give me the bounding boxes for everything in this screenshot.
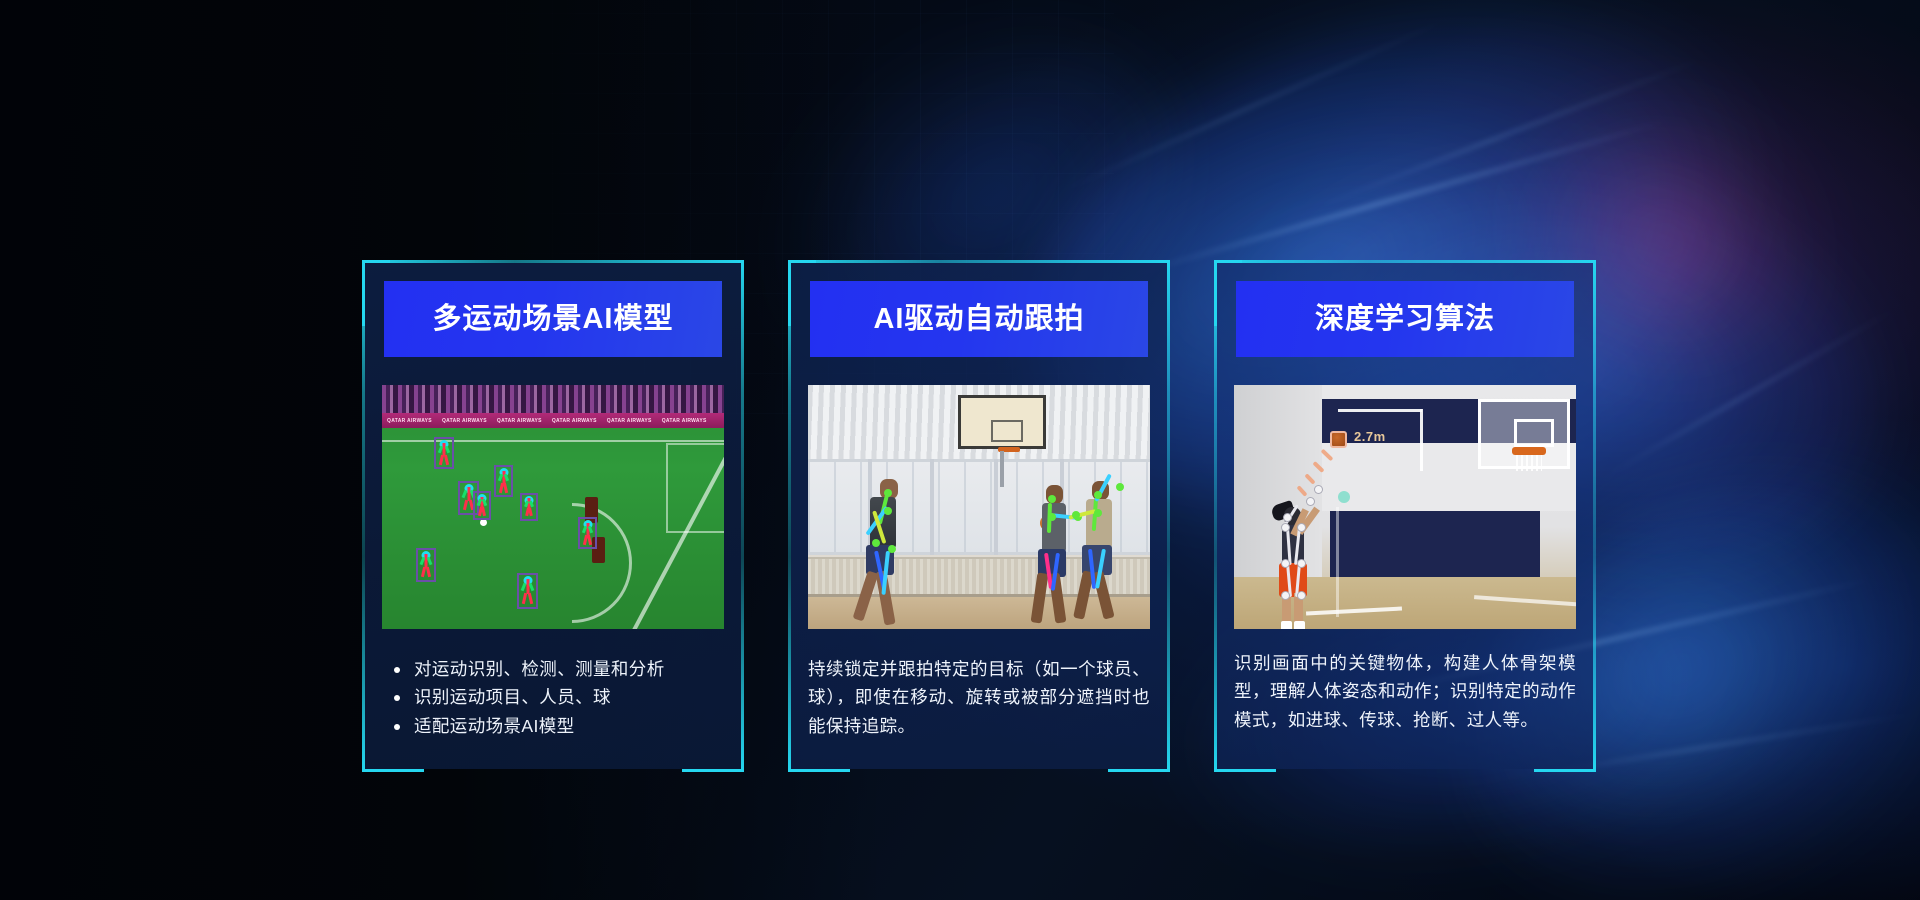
player-detection-box (416, 548, 436, 582)
pose-keypoint (1048, 495, 1056, 503)
feature-card-deep-learning-algorithm[interactable]: 深度学习算法 (1214, 260, 1596, 772)
banner-text: QATAR AIRWAYS (437, 418, 492, 424)
tracking-guide-vertical (1336, 507, 1339, 617)
pose-leg-right (527, 593, 532, 604)
pose-keypoint (872, 539, 880, 547)
tracking-guide-horizontal (1338, 409, 1422, 412)
list-item: 适配运动场景AI模型 (388, 712, 724, 740)
player-sock (1281, 621, 1292, 629)
feature-description: 持续锁定并跟拍特定的目标（如一个球员、球），即使在移动、旋转或被部分遮挡时也能保… (808, 655, 1150, 740)
card-title: 多运动场景AI模型 (384, 281, 722, 357)
card-body: 持续锁定并跟拍特定的目标（如一个球员、球），即使在移动、旋转或被部分遮挡时也能保… (808, 655, 1150, 740)
card-border-right (741, 260, 744, 772)
feature-description: 识别画面中的关键物体，构建人体骨架模型，理解人体姿态和动作；识别特定的动作模式，… (1234, 649, 1576, 734)
feature-card-ai-auto-tracking[interactable]: AI驱动自动跟拍 (788, 260, 1170, 772)
player-detection-box (578, 517, 597, 549)
distance-label: 2.7m (1354, 429, 1386, 444)
ball-detection-box (1330, 431, 1347, 448)
feature-bullet-list: 对运动识别、检测、测量和分析 识别运动项目、人员、球 适配运动场景AI模型 (382, 655, 724, 740)
pose-keypoint (1116, 483, 1124, 491)
player-torso (1042, 503, 1066, 553)
card-border-right (1167, 260, 1170, 772)
soccer-field: QATAR AIRWAYS QATAR AIRWAYS QATAR AIRWAY… (382, 385, 724, 629)
player-leg (1092, 570, 1114, 619)
basketball-net (1516, 455, 1542, 471)
player-leg (1031, 572, 1049, 623)
pose-arm-right (529, 582, 535, 591)
player-pose-overlay (854, 471, 924, 629)
backboard-inner-square (1514, 419, 1554, 447)
player-detection-box (434, 437, 454, 469)
pose-keypoint (884, 489, 892, 497)
card-body: 识别画面中的关键物体，构建人体骨架模型，理解人体姿态和动作；识别特定的动作模式，… (1234, 649, 1576, 734)
card-panel: 深度学习算法 (1217, 263, 1593, 769)
player-detection-box (517, 573, 538, 609)
pose-arm-right (482, 499, 487, 506)
stadium-crowd (382, 385, 724, 415)
corner-bracket-bottom-left-icon (1214, 769, 1276, 772)
pose-keypoint (884, 507, 892, 515)
corner-bracket-bottom-left-icon (788, 769, 850, 772)
wall-padding-navy (1330, 511, 1540, 577)
pose-keypoint (1283, 513, 1292, 522)
pose-keypoint (1094, 491, 1102, 499)
pose-keypoint (1281, 559, 1290, 568)
pose-leg-left (522, 593, 527, 604)
player-detection-box (473, 491, 491, 520)
pose-arm-right (529, 500, 534, 507)
tracking-marker (1338, 491, 1350, 503)
pose-leg-right (528, 508, 533, 517)
list-item: 对运动识别、检测、测量和分析 (388, 655, 724, 683)
banner-text: QATAR AIRWAYS (382, 418, 437, 424)
banner-text: QATAR AIRWAYS (602, 418, 657, 424)
pose-keypoint (888, 545, 896, 553)
slide-stage: 多运动场景AI模型 QATAR AIRWAYS QATAR AIRWAYS QA… (0, 0, 1920, 900)
banner-text: QATAR AIRWAYS (657, 418, 712, 424)
pose-leg-right (426, 567, 431, 578)
feature-card-multi-sport-ai-model[interactable]: 多运动场景AI模型 QATAR AIRWAYS QATAR AIRWAYS QA… (362, 260, 744, 772)
banner-text: QATAR AIRWAYS (547, 418, 602, 424)
corner-bracket-bottom-right-icon (1108, 769, 1170, 772)
player-torso (1086, 499, 1112, 549)
corner-bracket-bottom-right-icon (682, 769, 744, 772)
backboard-inner-square (991, 420, 1023, 442)
card-title: 深度学习算法 (1236, 281, 1574, 357)
pose-keypoint (1297, 591, 1306, 600)
pose-keypoint (1297, 523, 1306, 532)
card-body: 对运动识别、检测、测量和分析 识别运动项目、人员、球 适配运动场景AI模型 (382, 655, 724, 740)
pose-keypoint (1048, 513, 1056, 521)
pose-leg-right (587, 534, 592, 544)
soccer-detection-thumbnail: QATAR AIRWAYS QATAR AIRWAYS QATAR AIRWAY… (382, 385, 724, 629)
pose-keypoint (1094, 509, 1102, 517)
pose-keypoint (1281, 591, 1290, 600)
pose-leg-left (463, 500, 468, 511)
pose-leg-right (444, 454, 449, 464)
shot-distance-tracking-thumbnail: 2.7m (1234, 385, 1576, 629)
window-mullion (994, 459, 998, 555)
card-title: AI驱动自动跟拍 (810, 281, 1148, 357)
gym-basketball-pose-thumbnail (808, 385, 1150, 629)
field-penalty-box (666, 443, 724, 533)
player-detection-box (494, 465, 513, 497)
pose-keypoint (1281, 523, 1290, 532)
basketball-court-scene: 2.7m (1234, 385, 1576, 629)
card-panel: 多运动场景AI模型 QATAR AIRWAYS QATAR AIRWAYS QA… (365, 263, 741, 769)
pose-keypoint (1072, 511, 1080, 519)
gymnasium-scene (808, 385, 1150, 629)
soccer-ball (480, 519, 487, 526)
player-sock (1294, 621, 1305, 629)
pose-spine (526, 579, 529, 594)
pose-arm-right (427, 557, 433, 565)
corner-bracket-bottom-left-icon (362, 769, 424, 772)
window-mullion (930, 459, 934, 555)
pose-keypoint (1314, 485, 1323, 494)
basketball-backboard (958, 395, 1046, 449)
pose-leg-right (503, 482, 508, 492)
corner-bracket-bottom-right-icon (1534, 769, 1596, 772)
pose-keypoint (1306, 497, 1315, 506)
basketball-rim (1512, 447, 1546, 455)
shooter-pose-overlay (1268, 493, 1320, 625)
led-advertising-banner: QATAR AIRWAYS QATAR AIRWAYS QATAR AIRWAY… (382, 413, 724, 428)
pose-arm-right (445, 445, 451, 453)
card-panel: AI驱动自动跟拍 (791, 263, 1167, 769)
list-item: 识别运动项目、人员、球 (388, 683, 724, 711)
pose-spine (467, 487, 470, 501)
player-leg (853, 571, 879, 622)
player-detection-box (520, 493, 538, 521)
player-pose-overlay (1070, 469, 1136, 629)
banner-text: QATAR AIRWAYS (492, 418, 547, 424)
hoop-support-pole (1000, 451, 1004, 487)
card-border-right (1593, 260, 1596, 772)
pose-leg-right (481, 507, 486, 516)
pose-keypoint (1297, 559, 1306, 568)
tracking-guide-vertical (1420, 409, 1423, 471)
feature-card-row: 多运动场景AI模型 QATAR AIRWAYS QATAR AIRWAYS QA… (362, 260, 1596, 772)
